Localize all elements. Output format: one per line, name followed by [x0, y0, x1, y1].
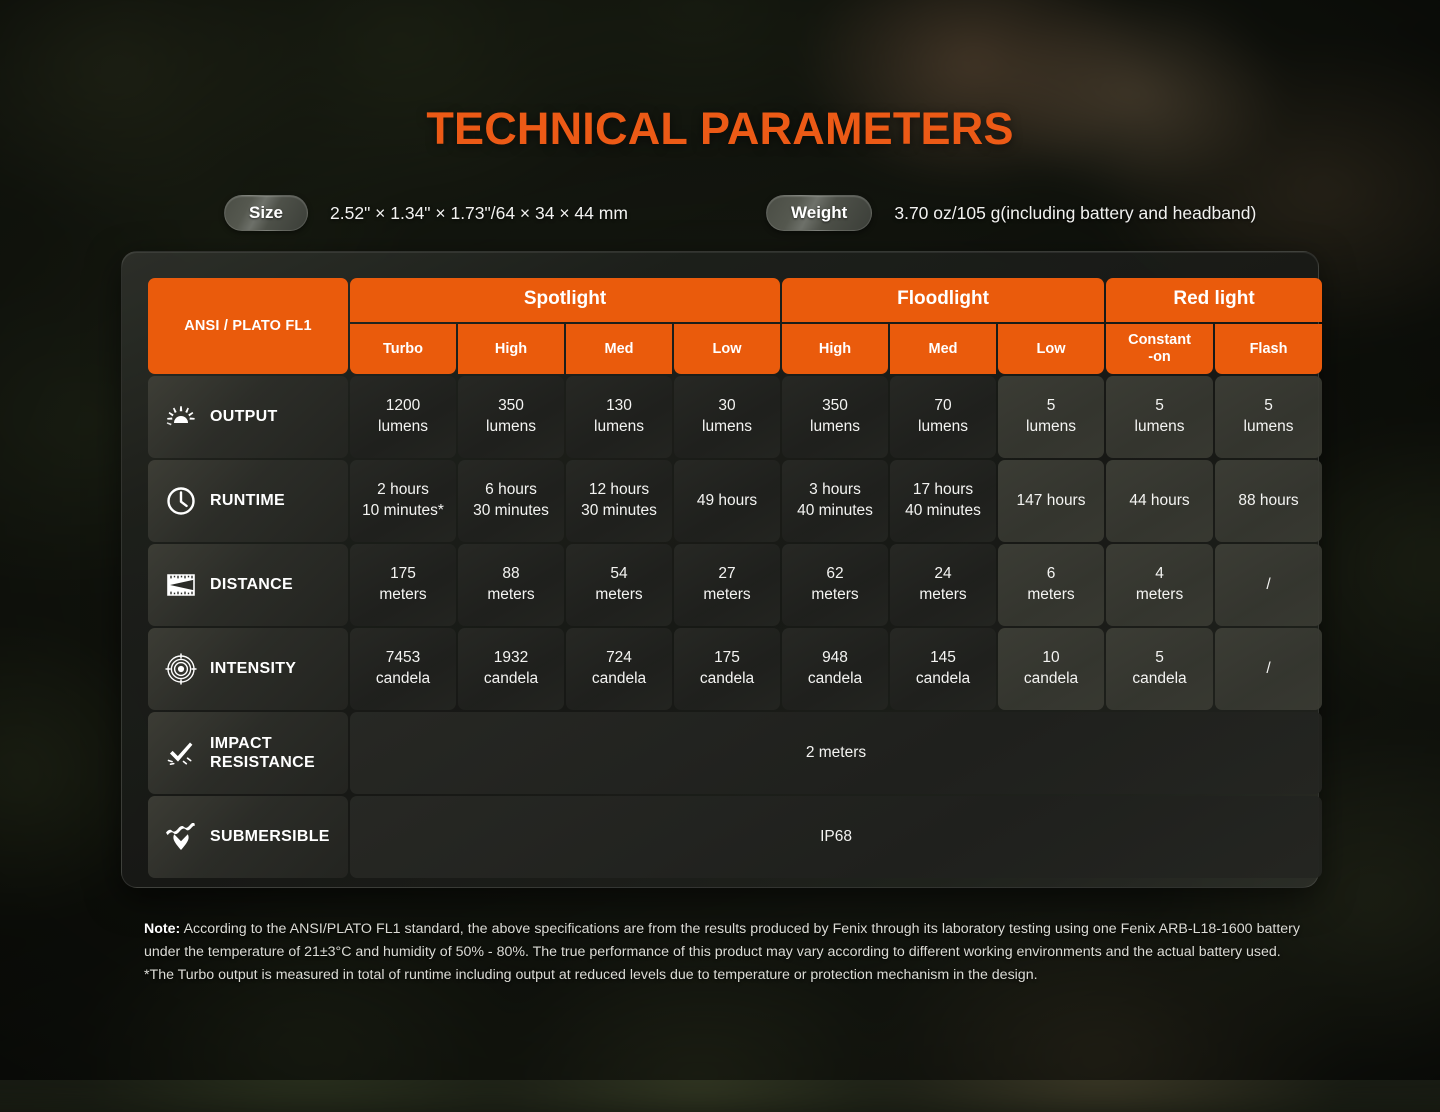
size-pill-label: Size — [224, 195, 308, 231]
table-row: SUBMERSIBLE IP68 — [148, 796, 1322, 878]
cell-runtime-flood-med: 17 hours40 minutes — [890, 460, 996, 542]
clock-icon — [164, 484, 198, 518]
impact-label-line-1: IMPACT — [210, 735, 272, 752]
cell-output-red-constant-on: 5lumens — [1106, 376, 1213, 458]
row-label-impact-resistance-text: IMPACT RESISTANCE — [210, 734, 315, 772]
specs-table: ANSI / PLATO FL1 Spotlight Floodlight Re… — [146, 276, 1324, 880]
cell-distance-spot-high: 88meters — [458, 544, 564, 626]
table-row: RUNTIME 2 hours10 minutes* 6 hours30 min… — [148, 460, 1322, 542]
cell-intensity-spot-high: 1932candela — [458, 628, 564, 710]
cell-intensity-red-constant-on: 5candela — [1106, 628, 1213, 710]
weight-spec: Weight 3.70 oz/105 g(including battery a… — [766, 194, 1256, 232]
cell-distance-spot-low: 27meters — [674, 544, 780, 626]
cell-intensity-flood-med: 145candela — [890, 628, 996, 710]
cell-runtime-spot-turbo: 2 hours10 minutes* — [350, 460, 456, 542]
cell-runtime-red-constant-on: 44 hours — [1106, 460, 1213, 542]
footnote-body: According to the ANSI/PLATO FL1 standard… — [144, 921, 1300, 960]
row-label-distance: DISTANCE — [148, 544, 348, 626]
cell-impact-resistance-value: 2 meters — [350, 712, 1322, 794]
cell-output-red-flash: 5lumens — [1215, 376, 1322, 458]
header-mode-spot-low: Low — [674, 324, 780, 374]
header-mode-flood-high: High — [782, 324, 888, 374]
cell-distance-flood-high: 62meters — [782, 544, 888, 626]
cell-runtime-red-flash: 88 hours — [1215, 460, 1322, 542]
weight-value: 3.70 oz/105 g(including battery and head… — [894, 203, 1256, 224]
target-icon — [164, 652, 198, 686]
cell-intensity-spot-med: 724candela — [566, 628, 672, 710]
sun-rays-icon — [164, 400, 198, 434]
cell-intensity-spot-turbo: 7453candela — [350, 628, 456, 710]
water-drop-icon — [164, 820, 198, 854]
row-label-runtime-text: RUNTIME — [210, 491, 285, 510]
table-row: IMPACT RESISTANCE 2 meters — [148, 712, 1322, 794]
header-mode-flood-low: Low — [998, 324, 1104, 374]
header-mode-red-constant-on-text: Constant -on — [1128, 332, 1191, 365]
cell-runtime-spot-low: 49 hours — [674, 460, 780, 542]
cell-distance-spot-med: 54meters — [566, 544, 672, 626]
table-row: OUTPUT 1200lumens 350lumens 130lumens 30… — [148, 376, 1322, 458]
cell-intensity-spot-low: 175candela — [674, 628, 780, 710]
impact-label-line-2: RESISTANCE — [210, 754, 315, 771]
row-label-output-text: OUTPUT — [210, 407, 278, 426]
cell-intensity-red-flash: / — [1215, 628, 1322, 710]
header-group-floodlight: Floodlight — [782, 278, 1104, 322]
technical-parameters-page: TECHNICAL PARAMETERS Size 2.52" × 1.34" … — [0, 0, 1440, 1080]
header-mode-red-constant-on: Constant -on — [1106, 324, 1213, 374]
header-mode-spot-med: Med — [566, 324, 672, 374]
header-mode-spot-turbo: Turbo — [350, 324, 456, 374]
footnote-asterisk: *The Turbo output is measured in total o… — [144, 964, 1300, 987]
cell-runtime-flood-high: 3 hours40 minutes — [782, 460, 888, 542]
row-label-output: OUTPUT — [148, 376, 348, 458]
size-weight-strip: Size 2.52" × 1.34" × 1.73"/64 × 34 × 44 … — [224, 194, 1304, 232]
header-group-spotlight: Spotlight — [350, 278, 780, 322]
cell-distance-spot-turbo: 175meters — [350, 544, 456, 626]
cell-distance-flood-low: 6meters — [998, 544, 1104, 626]
row-label-intensity-text: INTENSITY — [210, 659, 296, 678]
cell-distance-red-constant-on: 4meters — [1106, 544, 1213, 626]
cell-intensity-flood-high: 948candela — [782, 628, 888, 710]
weight-pill-label: Weight — [766, 195, 872, 231]
cell-submersible-value: IP68 — [350, 796, 1322, 878]
cell-runtime-spot-high: 6 hours30 minutes — [458, 460, 564, 542]
footnote-prefix: Note: — [144, 921, 180, 937]
cell-runtime-flood-low: 147 hours — [998, 460, 1104, 542]
header-mode-flood-med: Med — [890, 324, 996, 374]
cell-intensity-flood-low: 10candela — [998, 628, 1104, 710]
table-row: INTENSITY 7453candela 1932candela 724can… — [148, 628, 1322, 710]
header-mode-spot-high: High — [458, 324, 564, 374]
size-value: 2.52" × 1.34" × 1.73"/64 × 34 × 44 mm — [330, 203, 628, 224]
row-label-submersible: SUBMERSIBLE — [148, 796, 348, 878]
cell-output-spot-med: 130lumens — [566, 376, 672, 458]
cell-runtime-spot-med: 12 hours30 minutes — [566, 460, 672, 542]
header-group-red-light: Red light — [1106, 278, 1322, 322]
impact-check-icon — [164, 736, 198, 770]
footnote-main: Note: According to the ANSI/PLATO FL1 st… — [144, 918, 1300, 964]
row-label-runtime: RUNTIME — [148, 460, 348, 542]
cell-output-spot-turbo: 1200lumens — [350, 376, 456, 458]
header-ansi-plato-fl1: ANSI / PLATO FL1 — [148, 278, 348, 374]
row-label-intensity: INTENSITY — [148, 628, 348, 710]
cell-distance-red-flash: / — [1215, 544, 1322, 626]
footnote-block: Note: According to the ANSI/PLATO FL1 st… — [144, 918, 1300, 987]
cell-output-flood-low: 5lumens — [998, 376, 1104, 458]
row-label-impact-resistance: IMPACT RESISTANCE — [148, 712, 348, 794]
cell-output-spot-high: 350lumens — [458, 376, 564, 458]
cell-output-flood-med: 70lumens — [890, 376, 996, 458]
table-row: DISTANCE 175meters 88meters 54meters 27m… — [148, 544, 1322, 626]
row-label-submersible-text: SUBMERSIBLE — [210, 827, 330, 846]
page-title: TECHNICAL PARAMETERS — [0, 103, 1440, 155]
size-spec: Size 2.52" × 1.34" × 1.73"/64 × 34 × 44 … — [224, 194, 628, 232]
cell-distance-flood-med: 24meters — [890, 544, 996, 626]
cell-output-spot-low: 30lumens — [674, 376, 780, 458]
row-label-distance-text: DISTANCE — [210, 575, 293, 594]
header-mode-red-flash: Flash — [1215, 324, 1322, 374]
cell-output-flood-high: 350lumens — [782, 376, 888, 458]
ruler-beam-icon — [164, 568, 198, 602]
table-header-group-row: ANSI / PLATO FL1 Spotlight Floodlight Re… — [148, 278, 1322, 322]
specs-panel: ANSI / PLATO FL1 Spotlight Floodlight Re… — [121, 251, 1319, 888]
